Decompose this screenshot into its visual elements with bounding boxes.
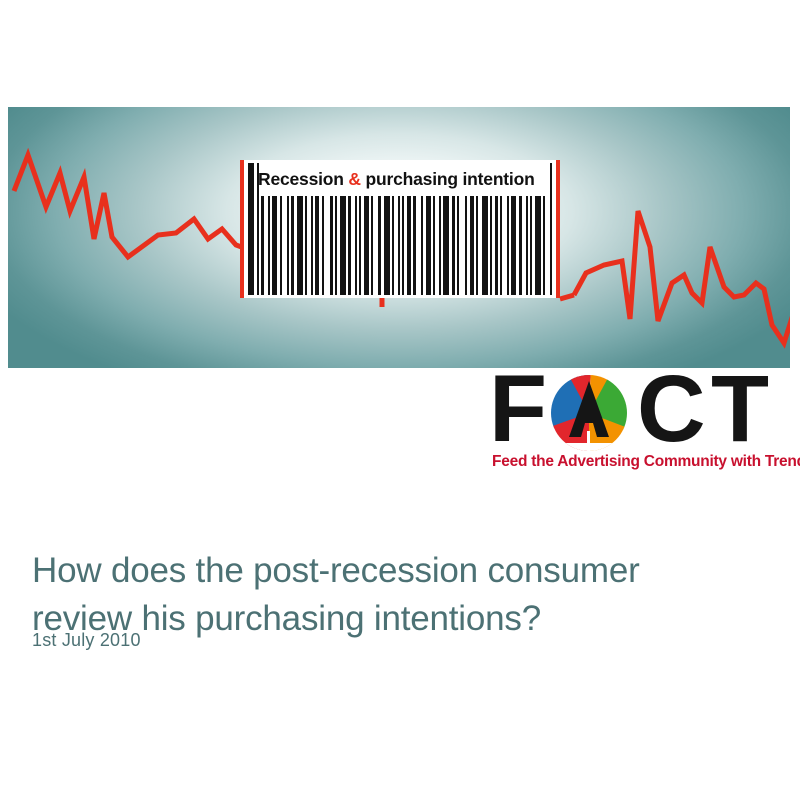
barcode-bar <box>543 196 545 295</box>
banner-background: Recession & purchasing intention <box>8 107 790 368</box>
barcode-bar <box>291 196 294 295</box>
barcode-bar <box>443 196 449 295</box>
barcode-bar <box>330 196 333 295</box>
logo-letter-a-mark-icon <box>545 375 633 451</box>
barcode-bar <box>340 196 346 295</box>
barcode-bar <box>280 196 282 295</box>
barcode-bar <box>359 196 361 295</box>
barcode-bar <box>421 196 423 295</box>
logo-a-crossbar <box>581 411 597 419</box>
barcode-bar <box>413 196 416 295</box>
barcode-bar <box>355 196 357 295</box>
barcode-bar <box>348 196 351 295</box>
barcode-bar <box>364 196 369 295</box>
trend-line-mid <box>560 295 574 299</box>
barcode-bar <box>398 196 400 295</box>
barcode-bar <box>507 196 509 295</box>
barcode-bar <box>407 196 411 295</box>
barcode-bar <box>530 196 532 295</box>
barcode-bar <box>470 196 474 295</box>
barcode-bar <box>519 196 522 295</box>
barcode-bar <box>500 196 502 295</box>
barcode-bar <box>465 196 467 295</box>
barcode-bar <box>322 196 324 295</box>
fact-logo: F <box>489 372 795 476</box>
barcode-bar <box>433 196 435 295</box>
logo-letter-f: F <box>489 368 545 450</box>
barcode-bar <box>526 196 528 295</box>
recession-banner: Recession & purchasing intention <box>8 107 790 368</box>
barcode-title-prefix: Recession <box>258 169 348 189</box>
barcode-bar <box>272 196 277 295</box>
barcode-bar <box>297 196 303 295</box>
barcode-bar <box>378 196 381 295</box>
barcode-bar <box>311 196 313 295</box>
presentation-date: 1st July 2010 <box>32 630 141 651</box>
logo-letter-t: T <box>711 368 767 450</box>
barcode-bar <box>384 196 390 295</box>
barcode-graphic: Recession & purchasing intention <box>240 160 560 298</box>
barcode-bar <box>490 196 492 295</box>
barcode-bar <box>305 196 307 295</box>
barcode-bar <box>426 196 431 295</box>
barcode-bar <box>550 163 552 295</box>
logo-foot-cut <box>545 443 633 451</box>
barcode-title-ampersand: & <box>348 169 360 189</box>
barcode-bar <box>452 196 455 295</box>
barcode-bar <box>371 196 373 295</box>
barcode-bar <box>457 196 459 295</box>
fact-logo-tagline: Feed the Advertising Community with Tren… <box>492 453 800 471</box>
barcode-title-suffix: purchasing intention <box>361 169 535 189</box>
barcode-bar <box>439 196 441 295</box>
barcode-bar <box>511 196 516 295</box>
barcode-bar <box>261 196 264 295</box>
trend-line-right <box>574 211 790 367</box>
barcode-bar <box>248 163 254 295</box>
barcode-bar <box>287 196 289 295</box>
barcode-bar <box>315 196 319 295</box>
fact-logo-letters: F <box>489 372 795 454</box>
barcode-bar <box>482 196 488 295</box>
barcode-bar <box>392 196 394 295</box>
barcode-bar <box>402 196 404 295</box>
barcode-title: Recession & purchasing intention <box>258 166 550 192</box>
barcode-bar <box>268 196 270 295</box>
barcode-bar <box>535 196 541 295</box>
barcode-bar <box>476 196 478 295</box>
barcode-bar <box>495 196 498 295</box>
page-title-line-1: How does the post-recession consumer <box>32 547 752 595</box>
barcode-bar <box>335 196 337 295</box>
logo-letter-c: C <box>637 368 704 450</box>
